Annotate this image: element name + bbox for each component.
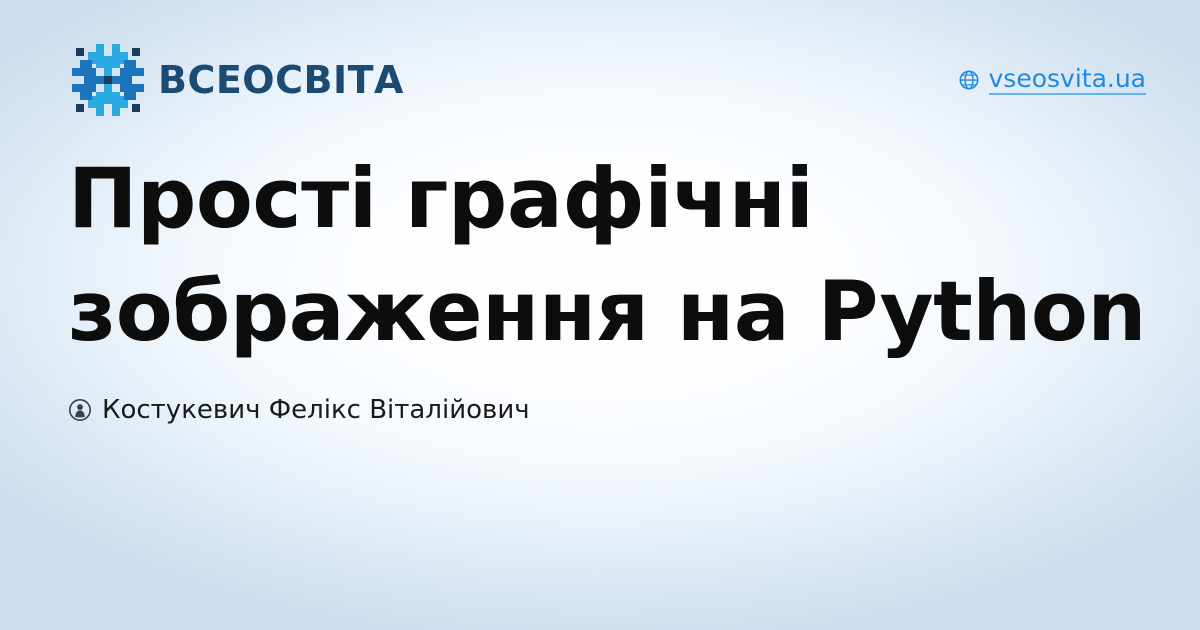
author-name: Костукевич Фелікс Віталійович — [102, 396, 530, 425]
site-url-label: vseosvita.ua — [989, 65, 1147, 96]
page-title: Прості графічні зображення на Python — [68, 143, 1148, 369]
user-circle-icon — [68, 398, 92, 422]
author-byline: Костукевич Фелікс Віталійович — [68, 396, 530, 425]
globe-icon — [958, 69, 980, 91]
vseosvita-snowflake-logo-icon — [72, 44, 144, 116]
share-card: ВСЕОСВІТА vseosvita.ua Прості графічні з… — [0, 0, 1200, 630]
site-url-link[interactable]: vseosvita.ua — [958, 65, 1147, 96]
brand-logo[interactable]: ВСЕОСВІТА — [72, 44, 404, 116]
brand-wordmark: ВСЕОСВІТА — [158, 61, 404, 99]
header: ВСЕОСВІТА vseosvita.ua — [72, 42, 1146, 118]
